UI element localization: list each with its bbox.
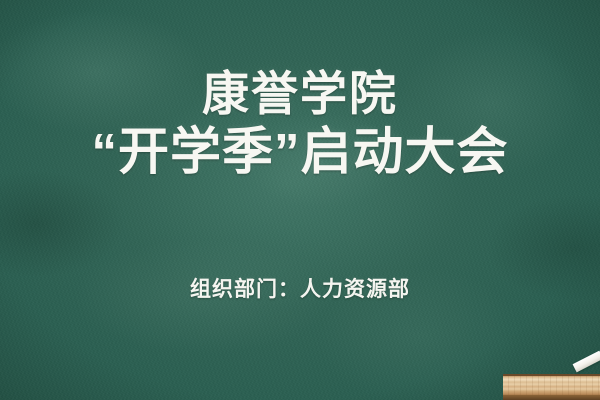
chalk-tray-wood-grain <box>503 376 600 395</box>
title-line-2: “开学季”启动大会 <box>0 122 600 182</box>
title-line-1: 康誉学院 <box>0 66 600 122</box>
slide-content: 康誉学院 “开学季”启动大会 组织部门：人力资源部 <box>0 0 600 400</box>
slide-subtitle: 组织部门：人力资源部 <box>0 276 600 304</box>
slide-title: 康誉学院 “开学季”启动大会 <box>0 66 600 182</box>
chalkboard-title-slide: 康誉学院 “开学季”启动大会 组织部门：人力资源部 <box>0 0 600 400</box>
chalk-tray <box>503 374 600 400</box>
chalk-tray-base <box>503 395 600 400</box>
